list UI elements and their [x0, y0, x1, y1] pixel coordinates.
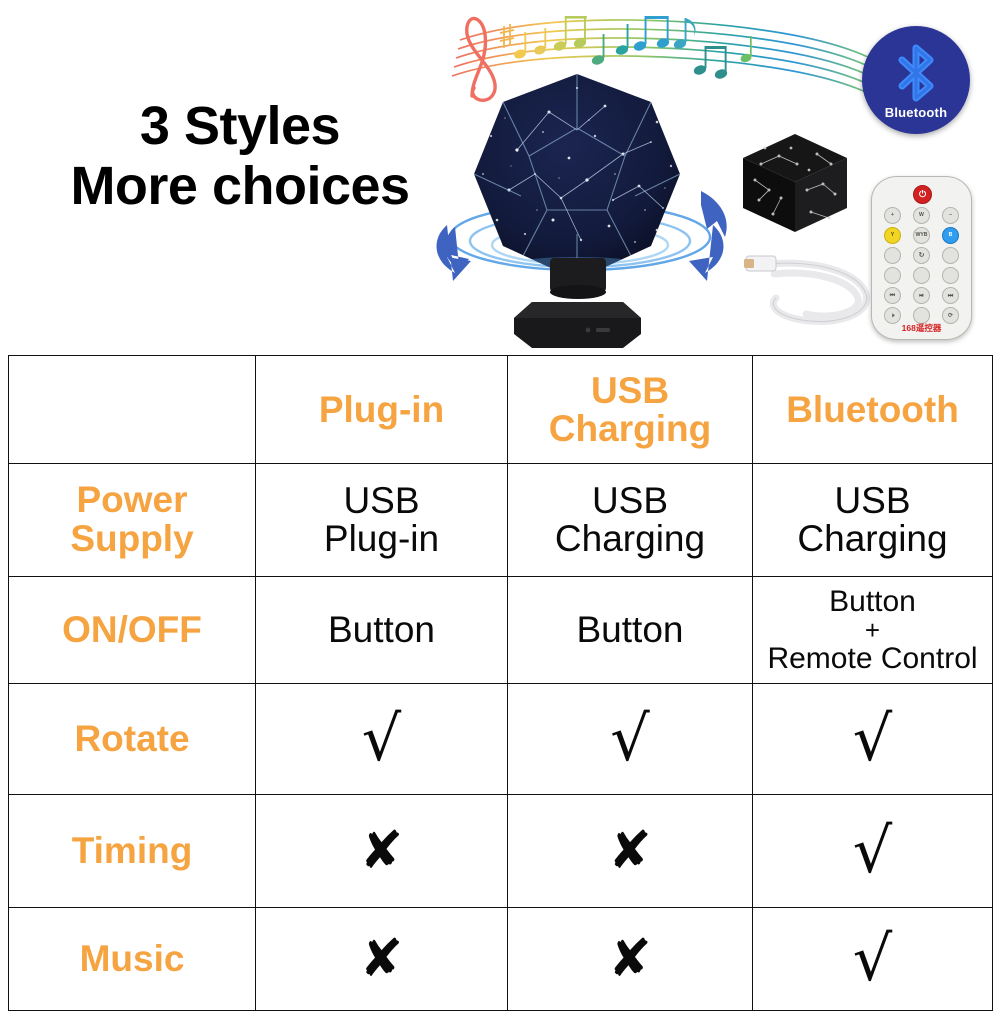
headline-line-1: 3 Styles	[40, 96, 440, 156]
remote-w-button: W	[913, 207, 930, 224]
cross-mark-icon: ✘	[360, 821, 404, 881]
star-projector-icon	[455, 58, 705, 358]
bluetooth-badge: Bluetooth	[862, 26, 970, 134]
table-header-row: Plug-in USB Charging Bluetooth	[9, 356, 993, 464]
cell-power-supply-bluetooth: USB Charging	[753, 464, 993, 577]
check-mark-icon: √	[610, 702, 650, 775]
cell-line-1: USB	[260, 482, 503, 520]
cell-line-2: Charging	[757, 520, 988, 558]
remote-timer-60min-button	[942, 267, 959, 284]
product-comparison-infographic: 3 Styles More choices	[0, 0, 1000, 1000]
cell-line-3: Remote Control	[757, 643, 988, 675]
column-header-bluetooth: Bluetooth	[753, 356, 993, 464]
cell-line-1: USB	[512, 482, 748, 520]
cell-power-supply-usb-charging: USB Charging	[508, 464, 753, 577]
remote-y-button: Y	[884, 227, 901, 244]
remote-control-icon: ⏻ + W − Y WYB B ↻ ⏮ ⏯ ⏭ 🕨 ⟳ 168遥控器	[871, 176, 972, 340]
row-label-music: Music	[9, 908, 256, 1011]
cell-line-1: Button	[757, 586, 988, 618]
bluetooth-icon	[890, 42, 942, 104]
cell-line-2: Charging	[512, 520, 748, 558]
row-label-on-off: ON/OFF	[9, 577, 256, 684]
cell-music-bluetooth: √	[753, 908, 993, 1011]
table-row: Timing ✘ ✘ √	[9, 795, 993, 908]
remote-plus-button: +	[884, 207, 901, 224]
comparison-table: Plug-in USB Charging Bluetooth Power Sup…	[8, 355, 993, 1011]
cell-timing-plug-in: ✘	[256, 795, 508, 908]
gift-box-icon	[735, 128, 855, 238]
cell-music-plug-in: ✘	[256, 908, 508, 1011]
remote-prev-button: ⏮	[884, 287, 901, 304]
column-header-plug-in: Plug-in	[256, 356, 508, 464]
column-header-usb-charging-line1: USB	[512, 372, 748, 410]
page-title: 3 Styles More choices	[40, 96, 440, 217]
cell-on-off-plug-in: Button	[256, 577, 508, 684]
cell-power-supply-plug-in: USB Plug-in	[256, 464, 508, 577]
cell-rotate-bluetooth: √	[753, 684, 993, 795]
cell-music-usb-charging: ✘	[508, 908, 753, 1011]
cross-mark-icon: ✘	[360, 929, 404, 989]
cell-rotate-plug-in: √	[256, 684, 508, 795]
remote-mode-button-1	[884, 247, 901, 264]
remote-timer-10min-button	[884, 267, 901, 284]
remote-power-button: ⏻	[913, 185, 932, 204]
remote-minus-button: −	[942, 207, 959, 224]
row-label-rotate: Rotate	[9, 684, 256, 795]
remote-wyb-button: WYB	[913, 227, 930, 244]
cell-timing-bluetooth: √	[753, 795, 993, 908]
table-row: Music ✘ ✘ √	[9, 908, 993, 1011]
cell-line-1: USB	[757, 482, 988, 520]
cell-on-off-usb-charging: Button	[508, 577, 753, 684]
table-row: ON/OFF Button Button Button + Remote Con…	[9, 577, 993, 684]
table-row: Rotate √ √ √	[9, 684, 993, 795]
cell-on-off-bluetooth: Button + Remote Control	[753, 577, 993, 684]
table-row: Power Supply USB Plug-in USB Charging US…	[9, 464, 993, 577]
cell-rotate-usb-charging: √	[508, 684, 753, 795]
headline-line-2: More choices	[40, 156, 440, 216]
remote-next-button: ⏭	[942, 287, 959, 304]
cell-line-2: +	[757, 617, 988, 643]
hero-section: 3 Styles More choices	[0, 0, 1000, 355]
remote-model-label: 168遥控器	[872, 322, 971, 334]
row-label-power-supply-line1: Power	[13, 481, 251, 520]
cell-line-2: Plug-in	[260, 520, 503, 558]
remote-brightness-up-button	[913, 267, 930, 284]
remote-mode-button-2	[942, 247, 959, 264]
cell-timing-usb-charging: ✘	[508, 795, 753, 908]
check-mark-icon: √	[853, 814, 893, 887]
remote-b-button: B	[942, 227, 959, 244]
column-header-usb-charging-line2: Charging	[512, 410, 748, 448]
row-label-power-supply: Power Supply	[9, 464, 256, 577]
table-corner-cell	[9, 356, 256, 464]
remote-play-pause-button: ⏯	[913, 287, 930, 304]
column-header-usb-charging: USB Charging	[508, 356, 753, 464]
cross-mark-icon: ✘	[608, 929, 652, 989]
bluetooth-badge-label: Bluetooth	[862, 105, 970, 120]
check-mark-icon: √	[362, 702, 402, 775]
remote-rotate-button: ↻	[913, 247, 930, 264]
cross-mark-icon: ✘	[608, 821, 652, 881]
check-mark-icon: √	[853, 922, 893, 995]
row-label-power-supply-line2: Supply	[13, 520, 251, 559]
usb-cable-icon	[740, 240, 880, 335]
row-label-timing: Timing	[9, 795, 256, 908]
check-mark-icon: √	[853, 702, 893, 775]
